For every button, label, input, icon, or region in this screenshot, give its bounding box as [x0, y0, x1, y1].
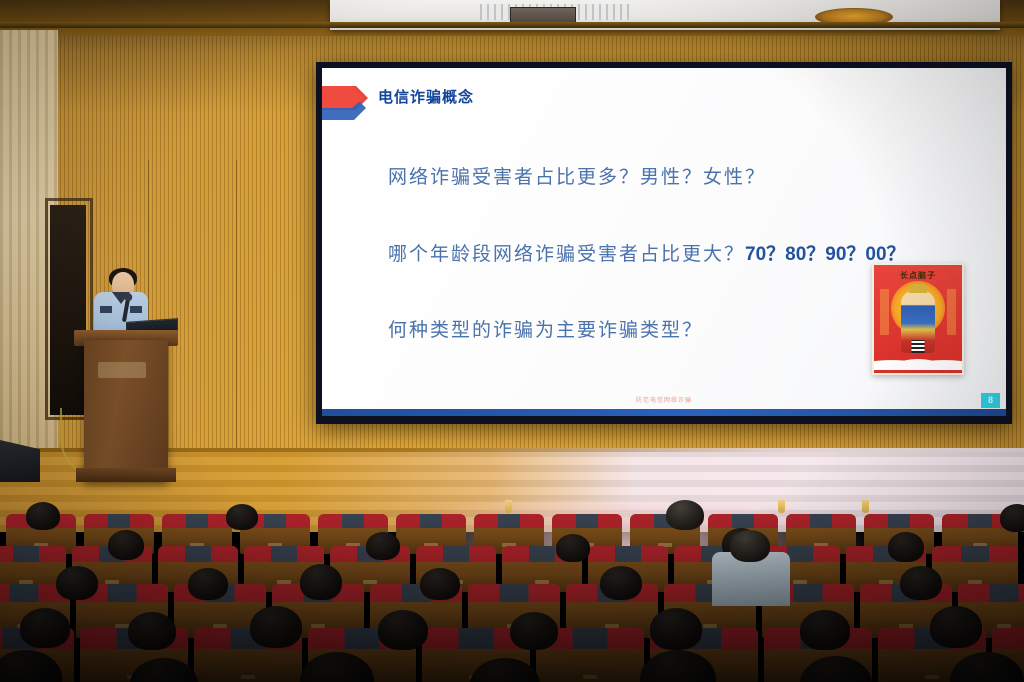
audience-head	[510, 612, 558, 650]
audience-head	[108, 530, 144, 560]
poster-header: 长点脑子	[900, 270, 936, 281]
slide-question-2-text: 哪个年龄段网络诈骗受害者占比更大？	[388, 243, 745, 265]
poster-side-text-left	[880, 289, 889, 335]
slide-question-1: 网络诈骗受害者占比更多？男性？女性？	[388, 162, 766, 189]
audience-head	[888, 532, 924, 562]
audience-head	[366, 532, 400, 560]
presentation-slide: 电信诈骗概念 网络诈骗受害者占比更多？男性？女性？ 哪个年龄段网络诈骗受害者占比…	[322, 68, 1006, 416]
audience-head	[650, 608, 702, 650]
slide-bottom-bar	[322, 409, 1006, 416]
speaker-podium	[84, 340, 168, 482]
podium-emblem	[98, 362, 146, 378]
slide-question-3: 何种类型的诈骗为主要诈骗类型？	[388, 315, 703, 342]
audience-head	[300, 564, 342, 600]
slide-page-number: 8	[981, 393, 1000, 408]
audience-head	[730, 530, 770, 562]
seat-backrest	[552, 514, 622, 528]
audience-head	[666, 500, 704, 530]
seat-backrest	[396, 514, 466, 528]
seat-backrest	[244, 546, 324, 562]
seat-backrest	[416, 546, 496, 562]
slide-question-2: 哪个年龄段网络诈骗受害者占比更大？70？80？90？00？	[388, 239, 906, 266]
poster-side-text-right	[947, 289, 956, 335]
audience-head	[26, 502, 60, 530]
audience-seating	[0, 500, 1024, 682]
seat-number-tag	[583, 675, 597, 679]
uniform-badge-right	[130, 306, 142, 313]
audience-head	[250, 606, 302, 648]
audience-head	[56, 566, 98, 600]
seat-backrest	[786, 514, 856, 528]
water-bottle	[505, 500, 512, 513]
audience-head	[420, 568, 460, 600]
seat-backrest	[158, 546, 238, 562]
stage-doorway	[50, 205, 86, 415]
seat-backrest	[932, 546, 1018, 562]
seat-backrest	[588, 546, 668, 562]
seat-backrest	[864, 514, 934, 528]
seat-backrest	[992, 628, 1024, 649]
wall-seam	[236, 160, 237, 490]
slide-title: 电信诈骗概念	[378, 86, 474, 107]
lighting-truss	[0, 22, 1024, 28]
audience-head	[20, 608, 70, 648]
arrow-marker-icon	[322, 82, 368, 122]
water-bottle	[778, 500, 785, 513]
podium-base	[76, 468, 176, 482]
audience-head	[378, 610, 428, 650]
seat-backrest	[84, 514, 154, 528]
audience-head	[900, 566, 942, 600]
anti-fraud-poster: 长点脑子	[872, 263, 964, 375]
seat-backrest	[0, 546, 66, 562]
projection-screen: 电信诈骗概念 网络诈骗受害者占比更多？男性？女性？ 哪个年龄段网络诈骗受害者占比…	[316, 62, 1012, 424]
seat-backrest	[162, 514, 232, 528]
uniform-badge-left	[100, 306, 112, 313]
seat-backrest	[318, 514, 388, 528]
water-bottle	[862, 500, 869, 513]
seat-number-tag	[241, 675, 255, 679]
lecture-hall-photo: 电信诈骗概念 网络诈骗受害者占比更多？男性？女性？ 哪个年龄段网络诈骗受害者占比…	[0, 0, 1024, 682]
audience-head	[1000, 504, 1024, 532]
audience-head	[556, 534, 590, 562]
poster-cloud-motif	[874, 352, 962, 370]
seat-backrest	[468, 584, 560, 602]
slide-footnote: 防范电信网络诈骗	[636, 395, 692, 404]
audience-head	[600, 566, 642, 600]
audience-head	[128, 612, 176, 650]
slide-question-2-numbers: 70？80？90？00？	[745, 244, 906, 265]
audience-head	[188, 568, 228, 600]
seat-number-tag	[925, 675, 939, 679]
audience-head	[930, 606, 982, 648]
audience-head	[800, 610, 850, 650]
seat-backrest	[708, 514, 778, 528]
seat-backrest	[958, 584, 1024, 602]
seat-backrest	[474, 514, 544, 528]
audience-head	[226, 504, 258, 530]
